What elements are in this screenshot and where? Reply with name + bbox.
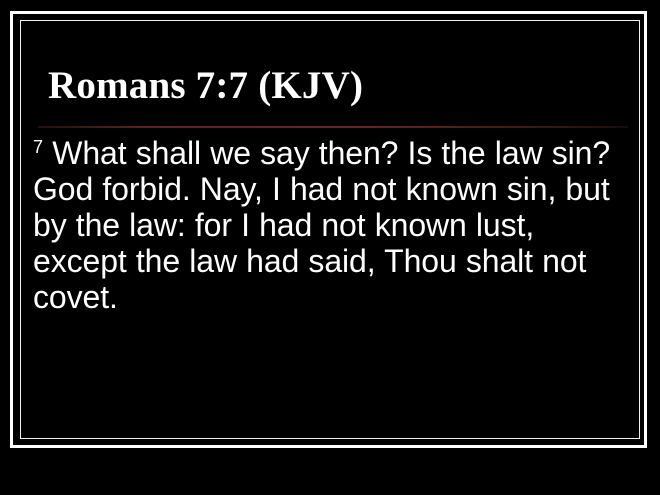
title-divider-rule	[38, 126, 628, 128]
verse-body-text: 7 What shall we say then? Is the law sin…	[33, 135, 633, 315]
verse-number-superscript: 7	[33, 137, 43, 157]
slide-title: Romans 7:7 (KJV)	[48, 63, 363, 109]
slide-content: Romans 7:7 (KJV) 7 What shall we say the…	[25, 25, 635, 433]
presentation-slide: Romans 7:7 (KJV) 7 What shall we say the…	[0, 0, 660, 495]
verse-text: What shall we say then? Is the law sin? …	[33, 135, 610, 315]
